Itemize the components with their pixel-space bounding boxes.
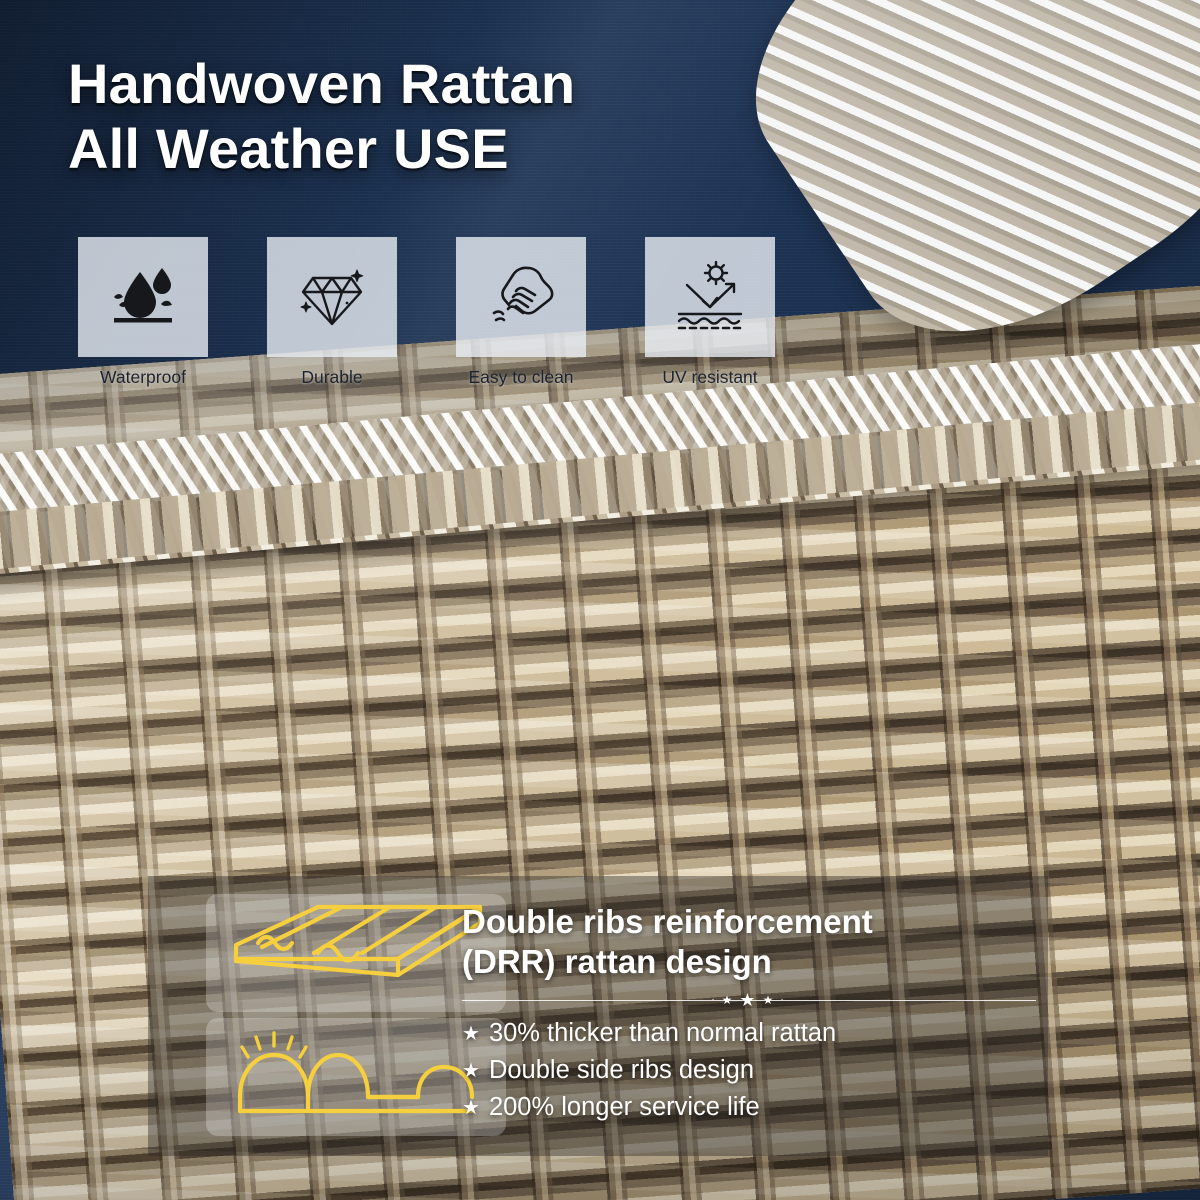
feature-badge-row: Waterproof Durable	[78, 237, 775, 388]
badge-label: Durable	[267, 367, 397, 388]
sun-uv-reflect-icon	[671, 261, 749, 333]
drr-title: Double ribs reinforcement (DRR) rattan d…	[462, 902, 1048, 983]
page-title: Handwoven Rattan All Weather USE	[68, 52, 575, 182]
bullet-text: 200% longer service life	[489, 1093, 760, 1121]
drr-bullet-list: ★30% thicker than normal rattan ★Double …	[462, 1015, 1048, 1127]
drr-title-line-2: (DRR) rattan design	[462, 942, 1048, 982]
badge-easy-to-clean: Easy to clean	[456, 237, 586, 388]
badge-label: UV resistant	[645, 367, 775, 388]
bullet-star-icon: ★	[462, 1023, 480, 1045]
hand-wiping-cloth-icon	[484, 262, 558, 332]
badge-panel	[267, 237, 397, 357]
headline-line-1: Handwoven Rattan	[68, 52, 575, 115]
badge-panel	[645, 237, 775, 357]
badge-durable: Durable	[267, 237, 397, 388]
divider-star-large: ★	[739, 991, 758, 1009]
diamond-icon	[295, 262, 369, 332]
divider-star-small-right: ★	[763, 994, 777, 1006]
bullet-text: Double side ribs design	[489, 1056, 754, 1084]
decorative-divider: · ★ ★ ★ ·	[462, 1000, 1036, 1001]
product-feature-image: Handwoven Rattan All Weather USE Waterpr…	[0, 0, 1200, 1200]
badge-label: Waterproof	[78, 367, 208, 388]
water-drop-icon	[106, 264, 180, 330]
list-item: ★200% longer service life	[462, 1089, 1048, 1126]
bullet-star-icon: ★	[462, 1097, 480, 1119]
badge-uv-resistant: UV resistant	[645, 237, 775, 388]
badge-label: Easy to clean	[456, 367, 586, 388]
drr-figure-column	[148, 876, 448, 1156]
badge-panel	[78, 237, 208, 357]
divider-dot-left: ·	[711, 995, 717, 1005]
divider-ornament: · ★ ★ ★ ·	[701, 991, 796, 1009]
drr-text-column: Double ribs reinforcement (DRR) rattan d…	[448, 876, 1048, 1156]
list-item: ★Double side ribs design	[462, 1052, 1048, 1089]
bullet-text: 30% thicker than normal rattan	[489, 1019, 836, 1047]
drr-info-panel: Double ribs reinforcement (DRR) rattan d…	[148, 876, 1048, 1156]
bullet-star-icon: ★	[462, 1060, 480, 1082]
headline-line-2: All Weather USE	[68, 117, 575, 182]
drr-title-line-1: Double ribs reinforcement	[462, 902, 1048, 942]
badge-waterproof: Waterproof	[78, 237, 208, 388]
divider-star-small-left: ★	[722, 994, 736, 1006]
divider-dot-right: ·	[780, 995, 786, 1005]
list-item: ★30% thicker than normal rattan	[462, 1015, 1048, 1052]
badge-panel	[456, 237, 586, 357]
